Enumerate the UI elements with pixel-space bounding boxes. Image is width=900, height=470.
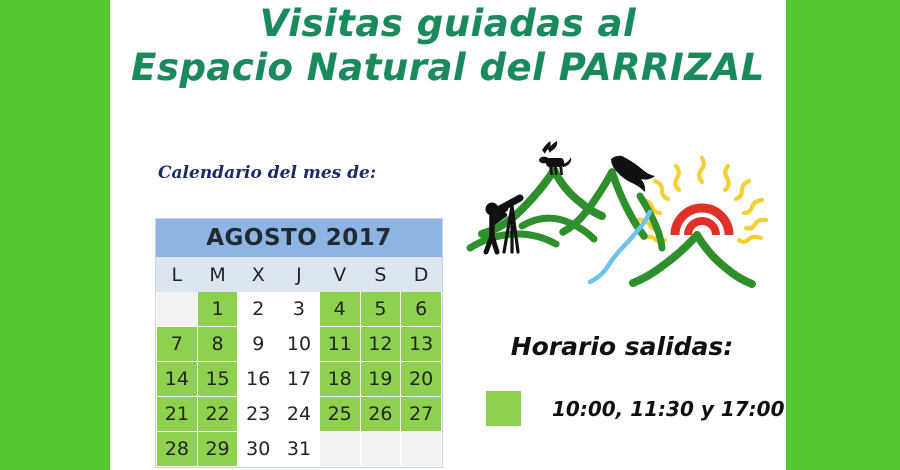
poster-title: Visitas guiadas al Espacio Natural del P…	[110, 2, 786, 89]
calendar-day-10[interactable]: 10	[279, 327, 320, 362]
calendar-weekday-5: S	[360, 258, 401, 292]
calendar-week-row: 78910111213	[157, 327, 442, 362]
calendar-day-20[interactable]: 20	[401, 362, 442, 397]
calendar-month-title: AGOSTO 2017	[156, 219, 442, 257]
calendar-day-12[interactable]: 12	[360, 327, 401, 362]
calendar-weekday-2: X	[238, 258, 279, 292]
title-line-2: Espacio Natural del PARRIZAL	[110, 46, 786, 90]
calendar-day-29[interactable]: 29	[197, 432, 238, 467]
ibex-icon	[539, 141, 571, 175]
calendar-week-row: 14151617181920	[157, 362, 442, 397]
calendar-weekday-6: D	[401, 258, 442, 292]
calendar-weekday-0: L	[157, 258, 198, 292]
schedule-heading: Horario salidas:	[462, 332, 782, 361]
calendar-day-4[interactable]: 4	[319, 292, 360, 327]
calendar-weekday-1: M	[197, 258, 238, 292]
calendar-weekday-4: V	[319, 258, 360, 292]
calendar-day-6[interactable]: 6	[401, 292, 442, 327]
calendar-day-28[interactable]: 28	[157, 432, 198, 467]
calendar-day-7[interactable]: 7	[157, 327, 198, 362]
calendar-day-empty	[360, 432, 401, 467]
legend-color-swatch	[486, 391, 521, 426]
calendar-day-5[interactable]: 5	[360, 292, 401, 327]
calendar-day-18[interactable]: 18	[319, 362, 360, 397]
calendar-day-31[interactable]: 31	[279, 432, 320, 467]
calendar-weekday-3: J	[279, 258, 320, 292]
calendar-day-3[interactable]: 3	[279, 292, 320, 327]
calendar-day-22[interactable]: 22	[197, 397, 238, 432]
calendar-day-30[interactable]: 30	[238, 432, 279, 467]
calendar-day-19[interactable]: 19	[360, 362, 401, 397]
sun-disc-icon	[675, 208, 729, 235]
calendar-day-23[interactable]: 23	[238, 397, 279, 432]
calendar-week-row: 123456	[157, 292, 442, 327]
calendar-day-empty	[157, 292, 198, 327]
calendar-week-row: 28293031	[157, 432, 442, 467]
calendar-day-13[interactable]: 13	[401, 327, 442, 362]
calendar-day-9[interactable]: 9	[238, 327, 279, 362]
calendar-grid: LMXJVSD 12345678910111213141516171819202…	[156, 257, 442, 467]
calendar-day-11[interactable]: 11	[319, 327, 360, 362]
calendar-day-1[interactable]: 1	[197, 292, 238, 327]
calendar-day-25[interactable]: 25	[319, 397, 360, 432]
schedule-times: 10:00, 11:30 y 17:00	[552, 397, 785, 421]
calendar-day-empty	[401, 432, 442, 467]
left-green-bar	[0, 0, 110, 470]
poster-canvas: Visitas guiadas al Espacio Natural del P…	[0, 0, 900, 470]
calendar-caption: Calendario del mes de:	[158, 163, 376, 183]
schedule-legend: 10:00, 11:30 y 17:00	[486, 391, 785, 426]
calendar-widget: AGOSTO 2017 LMXJVSD 12345678910111213141…	[155, 218, 443, 468]
river-icon	[590, 212, 650, 282]
calendar-weekday-row: LMXJVSD	[157, 258, 442, 292]
title-line-1: Visitas guiadas al	[110, 2, 786, 46]
calendar-day-27[interactable]: 27	[401, 397, 442, 432]
calendar-day-15[interactable]: 15	[197, 362, 238, 397]
calendar-day-16[interactable]: 16	[238, 362, 279, 397]
calendar-day-8[interactable]: 8	[197, 327, 238, 362]
calendar-day-26[interactable]: 26	[360, 397, 401, 432]
calendar-day-21[interactable]: 21	[157, 397, 198, 432]
right-green-bar	[786, 0, 900, 470]
calendar-day-17[interactable]: 17	[279, 362, 320, 397]
calendar-week-row: 21222324252627	[157, 397, 442, 432]
espacio-natural-logo	[462, 140, 782, 295]
calendar-day-24[interactable]: 24	[279, 397, 320, 432]
calendar-day-2[interactable]: 2	[238, 292, 279, 327]
calendar-day-empty	[319, 432, 360, 467]
calendar-day-14[interactable]: 14	[157, 362, 198, 397]
